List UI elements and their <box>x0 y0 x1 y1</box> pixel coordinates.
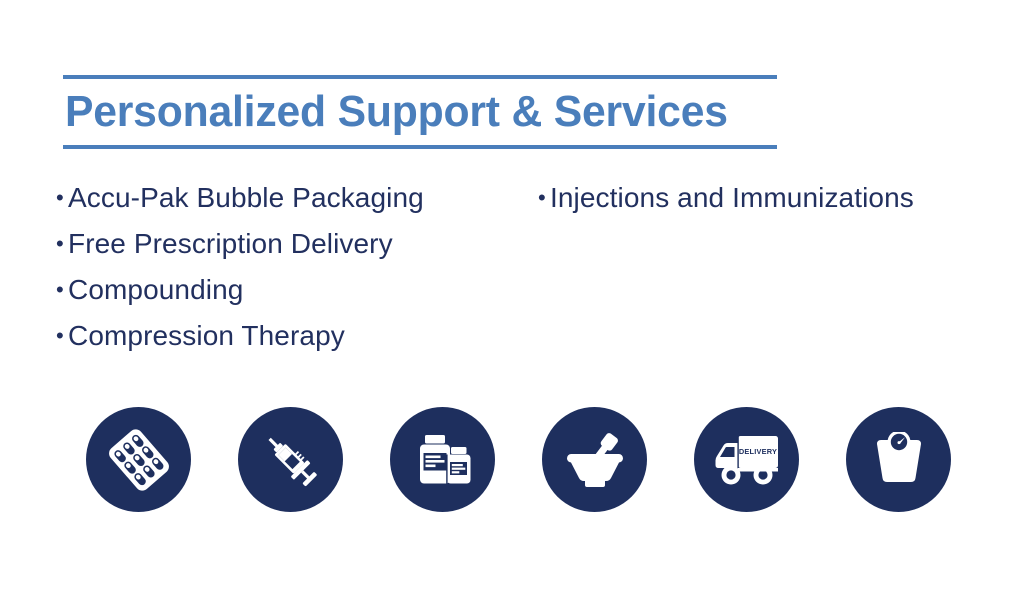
bullet-icon: • <box>532 180 550 216</box>
list-item: • Compression Therapy <box>50 318 520 364</box>
icon-badge-blister-pack <box>86 407 191 512</box>
list-item-label: Accu-Pak Bubble Packaging <box>68 180 424 216</box>
pill-bottles-icon <box>412 429 474 491</box>
icon-badge-syringe <box>238 407 343 512</box>
list-item: • Compounding <box>50 272 520 318</box>
list-item-label: Free Prescription Delivery <box>68 226 393 262</box>
slide-canvas: Personalized Support & Services • Accu-P… <box>0 0 1025 590</box>
weight-scale-icon <box>868 432 930 488</box>
icon-badge-pill-bottles <box>390 407 495 512</box>
list-item-label: Compounding <box>68 272 243 308</box>
title-block: Personalized Support & Services <box>63 75 777 149</box>
delivery-truck-icon: DELIVERY <box>712 432 782 488</box>
bullet-icon: • <box>50 180 68 216</box>
services-list-right: • Injections and Immunizations <box>532 180 1025 226</box>
mortar-pestle-icon <box>562 430 628 490</box>
truck-label: DELIVERY <box>738 447 776 456</box>
bullet-icon: • <box>50 226 68 262</box>
blister-pack-icon <box>106 427 172 493</box>
list-item: • Injections and Immunizations <box>532 180 1025 226</box>
list-item: • Free Prescription Delivery <box>50 226 520 272</box>
bullet-icon: • <box>50 318 68 354</box>
list-item-label: Injections and Immunizations <box>550 180 914 216</box>
icon-badge-weight-scale <box>846 407 951 512</box>
service-icon-row: DELIVERY <box>86 407 951 512</box>
page-title: Personalized Support & Services <box>63 79 756 145</box>
list-item: • Accu-Pak Bubble Packaging <box>50 180 520 226</box>
syringe-icon <box>259 428 323 492</box>
icon-badge-delivery-truck: DELIVERY <box>694 407 799 512</box>
title-rule-bottom <box>63 145 777 149</box>
icon-badge-mortar-pestle <box>542 407 647 512</box>
list-item-label: Compression Therapy <box>68 318 345 354</box>
bullet-icon: • <box>50 272 68 308</box>
services-list-left: • Accu-Pak Bubble Packaging • Free Presc… <box>50 180 520 364</box>
